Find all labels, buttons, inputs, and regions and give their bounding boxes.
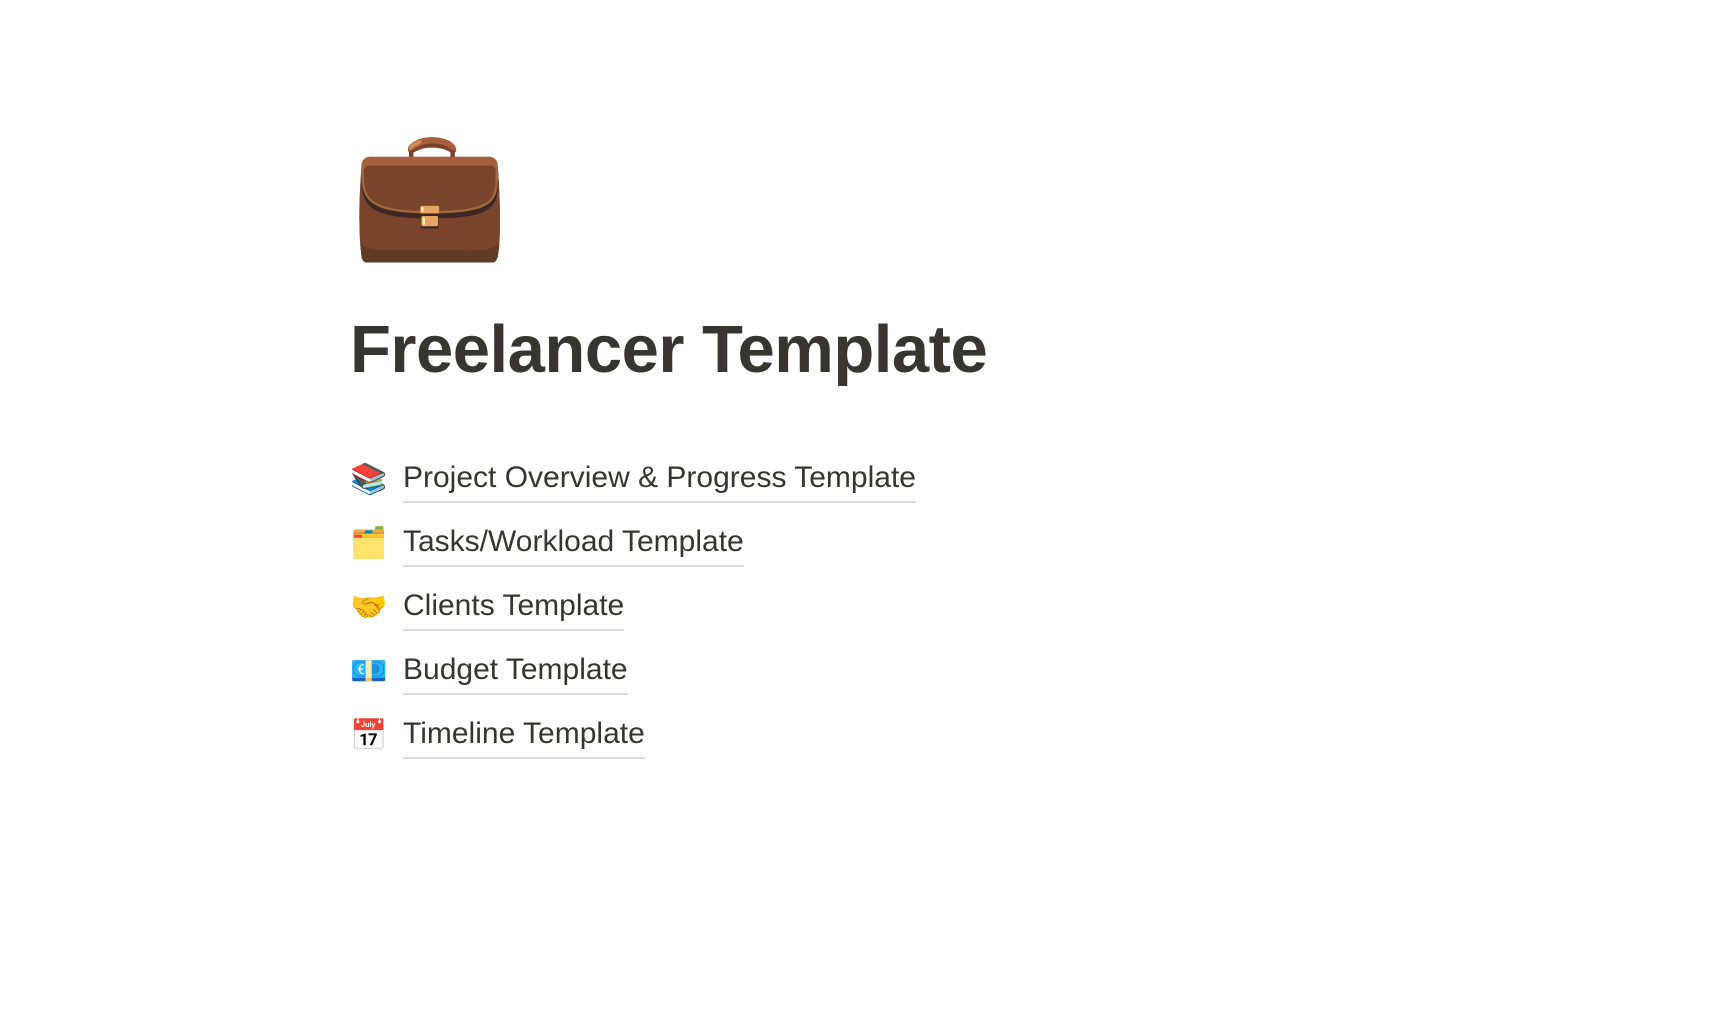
books-icon: 📚 [350,462,386,498]
page-canvas: 💼 Freelancer Template 📚 Project Overview… [0,0,1734,1024]
calendar-icon: 📅 [350,718,386,754]
link-tasks-workload-template[interactable]: Tasks/Workload Template [403,522,744,567]
handshake-icon: 🤝 [350,590,386,626]
list-item: 🗂️ Tasks/Workload Template [350,512,1680,576]
card-index-dividers-icon: 🗂️ [350,526,386,562]
list-item: 💶 Budget Template [350,640,1680,704]
link-clients-template[interactable]: Clients Template [403,586,624,631]
page-title: Freelancer Template [350,310,1680,390]
list-item: 🤝 Clients Template [350,576,1680,640]
template-link-list: 📚 Project Overview & Progress Template 🗂… [350,448,1680,768]
briefcase-icon[interactable]: 💼 [350,118,510,268]
list-item: 📚 Project Overview & Progress Template [350,448,1680,512]
page-content: 💼 Freelancer Template 📚 Project Overview… [350,0,1680,768]
link-budget-template[interactable]: Budget Template [403,650,628,695]
link-timeline-template[interactable]: Timeline Template [403,714,645,759]
euro-banknote-icon: 💶 [350,654,386,690]
list-item: 📅 Timeline Template [350,704,1680,768]
link-project-overview-progress-template[interactable]: Project Overview & Progress Template [403,458,916,503]
